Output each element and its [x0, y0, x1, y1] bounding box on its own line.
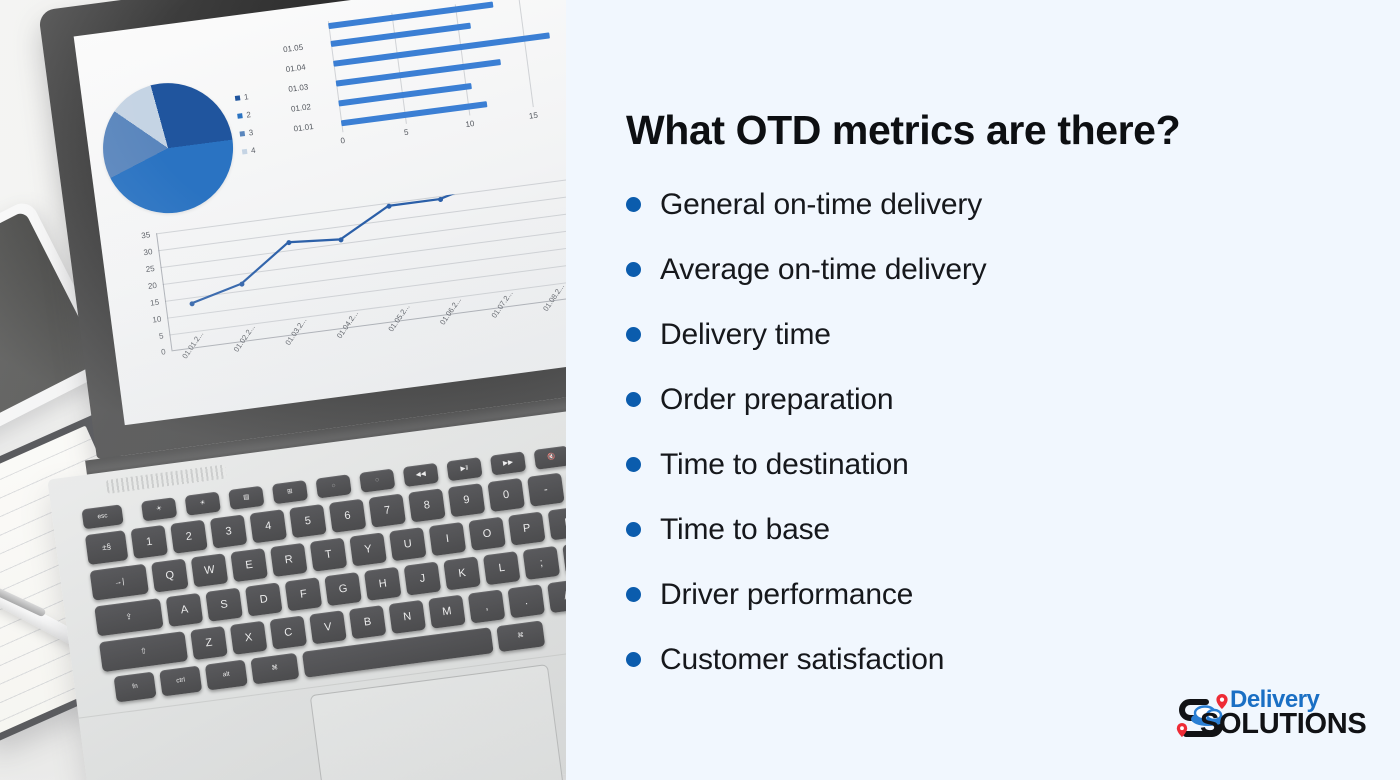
bullet-icon	[626, 327, 641, 342]
key-n: N	[388, 600, 426, 634]
key-6: 6	[329, 499, 367, 533]
metrics-list: General on-time delivery Average on-time…	[626, 172, 1366, 692]
bar-category-label: 01.01	[293, 122, 314, 134]
key-comma: ,	[468, 589, 506, 623]
key-o: O	[468, 517, 506, 551]
list-item: General on-time delivery	[626, 172, 1366, 237]
key-command-right: ⌘	[496, 620, 545, 652]
map-pin-icon	[1216, 694, 1227, 709]
key-f7: ◀◀	[403, 463, 439, 487]
bullet-icon	[626, 587, 641, 602]
key-f4: ⊞	[272, 480, 308, 504]
slide-canvas: 1 2 3 4 01.01 01.02 01.03 01.	[0, 0, 1400, 780]
bullet-icon	[626, 457, 641, 472]
bar-category-label: 01.04	[285, 63, 306, 75]
bar-category-label: 01.05	[283, 43, 304, 55]
key-w: W	[191, 553, 229, 587]
key-g: G	[324, 572, 362, 606]
list-item-label: Order preparation	[660, 383, 893, 417]
legend-item: 3	[239, 128, 254, 139]
key-9: 9	[448, 483, 486, 517]
bar-axis-tick: 5	[403, 128, 409, 138]
key-v: V	[309, 610, 347, 644]
list-item-label: Average on-time delivery	[660, 253, 986, 287]
legend-label: 1	[243, 92, 249, 102]
bullet-icon	[626, 392, 641, 407]
key-shift-left: ⇧	[99, 631, 188, 672]
key-section: ±§	[85, 530, 129, 565]
key-0: 0	[487, 478, 525, 512]
bullet-icon	[626, 197, 641, 212]
legend-label: 3	[248, 128, 254, 138]
legend-item: 1	[235, 92, 250, 103]
bullet-icon	[626, 262, 641, 277]
key-r: R	[270, 543, 308, 577]
key-h: H	[364, 567, 402, 601]
legend-label: 4	[251, 146, 257, 156]
key-8: 8	[408, 488, 446, 522]
key-alt: alt	[205, 660, 248, 691]
key-2: 2	[170, 520, 208, 554]
laptop-keyboard: esc ☀ ☀ ▤ ⊞ ◌ ◌ ◀◀ ▶‖ ▶▶ 🔇 🔉 🔊 ±§ 1	[81, 430, 566, 698]
bar-axis-tick: 10	[465, 119, 475, 129]
laptop: 1 2 3 4 01.01 01.02 01.03 01.	[20, 0, 566, 780]
list-item-label: Time to destination	[660, 448, 909, 482]
key-f10: 🔇	[534, 446, 566, 470]
key-b: B	[349, 605, 387, 639]
key-e: E	[230, 548, 268, 582]
key-minus: -	[527, 473, 565, 507]
key-4: 4	[249, 509, 287, 543]
key-m: M	[428, 595, 466, 629]
laptop-speaker-grille	[106, 464, 227, 494]
line-chart: 35 30 25 20 15 10 5 0	[120, 177, 566, 407]
bar-category-label: 01.02	[290, 102, 311, 114]
key-q: Q	[151, 558, 189, 592]
key-c: C	[269, 615, 307, 649]
key-y: Y	[349, 532, 387, 566]
page-title: What OTD metrics are there?	[626, 107, 1366, 154]
list-item: Average on-time delivery	[626, 237, 1366, 302]
pie-chart-legend: 1 2 3 4	[235, 92, 258, 165]
list-item: Time to base	[626, 497, 1366, 562]
key-f: F	[285, 577, 323, 611]
legend-item: 2	[237, 110, 252, 121]
hero-photo: 1 2 3 4 01.01 01.02 01.03 01.	[0, 0, 566, 780]
key-j: J	[404, 562, 442, 596]
key-1: 1	[130, 525, 168, 559]
key-command-left: ⌘	[250, 653, 299, 685]
key-f1: ☀	[141, 497, 177, 521]
laptop-lid: 1 2 3 4 01.01 01.02 01.03 01.	[38, 0, 566, 459]
key-f3: ▤	[228, 486, 264, 510]
list-item-label: Delivery time	[660, 318, 831, 352]
key-3: 3	[210, 514, 248, 548]
key-x: X	[230, 621, 268, 655]
pie-chart	[95, 75, 241, 221]
key-a: A	[166, 593, 204, 627]
list-item-label: Driver performance	[660, 578, 913, 612]
list-item: Delivery time	[626, 302, 1366, 367]
key-z: Z	[190, 626, 228, 660]
list-item-label: General on-time delivery	[660, 188, 982, 222]
key-t: T	[310, 538, 348, 572]
key-k: K	[443, 556, 481, 590]
bar-chart: 01.01 01.02 01.03 01.04 01.05 0 5 10	[272, 0, 566, 157]
key-bracket-left: [	[548, 506, 566, 540]
key-s: S	[205, 588, 243, 622]
key-f8: ▶‖	[446, 457, 482, 481]
key-ctrl: ctrl	[159, 666, 202, 697]
list-item: Driver performance	[626, 562, 1366, 627]
content-panel: What OTD metrics are there? General on-t…	[566, 0, 1400, 780]
list-item-label: Customer satisfaction	[660, 643, 944, 677]
key-f9: ▶▶	[490, 451, 526, 475]
key-fn: fn	[114, 672, 157, 703]
key-slash: /	[547, 579, 566, 613]
legend-label: 2	[246, 110, 252, 120]
list-item-label: Time to base	[660, 513, 830, 547]
legend-item: 4	[242, 146, 257, 157]
key-p: P	[508, 511, 546, 545]
key-u: U	[389, 527, 427, 561]
bar-axis-tick: 15	[528, 111, 538, 121]
list-item: Order preparation	[626, 367, 1366, 432]
bar-axis-tick: 0	[340, 136, 346, 146]
key-i: I	[429, 522, 467, 556]
bar-category-label: 01.03	[288, 82, 309, 94]
key-esc: esc	[81, 504, 123, 529]
key-d: D	[245, 582, 283, 616]
key-7: 7	[368, 494, 406, 528]
brand-logo[interactable]: Delivery SOLUTIONS	[1172, 688, 1377, 744]
key-f6: ◌	[359, 469, 395, 493]
pie-chart-graphic	[95, 75, 241, 221]
list-item: Time to destination	[626, 432, 1366, 497]
key-f5: ◌	[315, 474, 351, 498]
key-semicolon: ;	[523, 546, 561, 580]
logo-word-solutions: SOLUTIONS	[1200, 708, 1366, 741]
bullet-icon	[626, 522, 641, 537]
laptop-screen: 1 2 3 4 01.01 01.02 01.03 01.	[74, 0, 566, 425]
list-item: Customer satisfaction	[626, 627, 1366, 692]
bullet-icon	[626, 652, 641, 667]
key-f2: ☀	[185, 492, 221, 516]
key-tab: →|	[90, 564, 149, 601]
key-5: 5	[289, 504, 327, 538]
line-chart-svg	[120, 177, 566, 407]
key-caps-lock: ⇪	[94, 598, 163, 636]
key-l: L	[483, 551, 521, 585]
key-period: .	[507, 584, 545, 618]
